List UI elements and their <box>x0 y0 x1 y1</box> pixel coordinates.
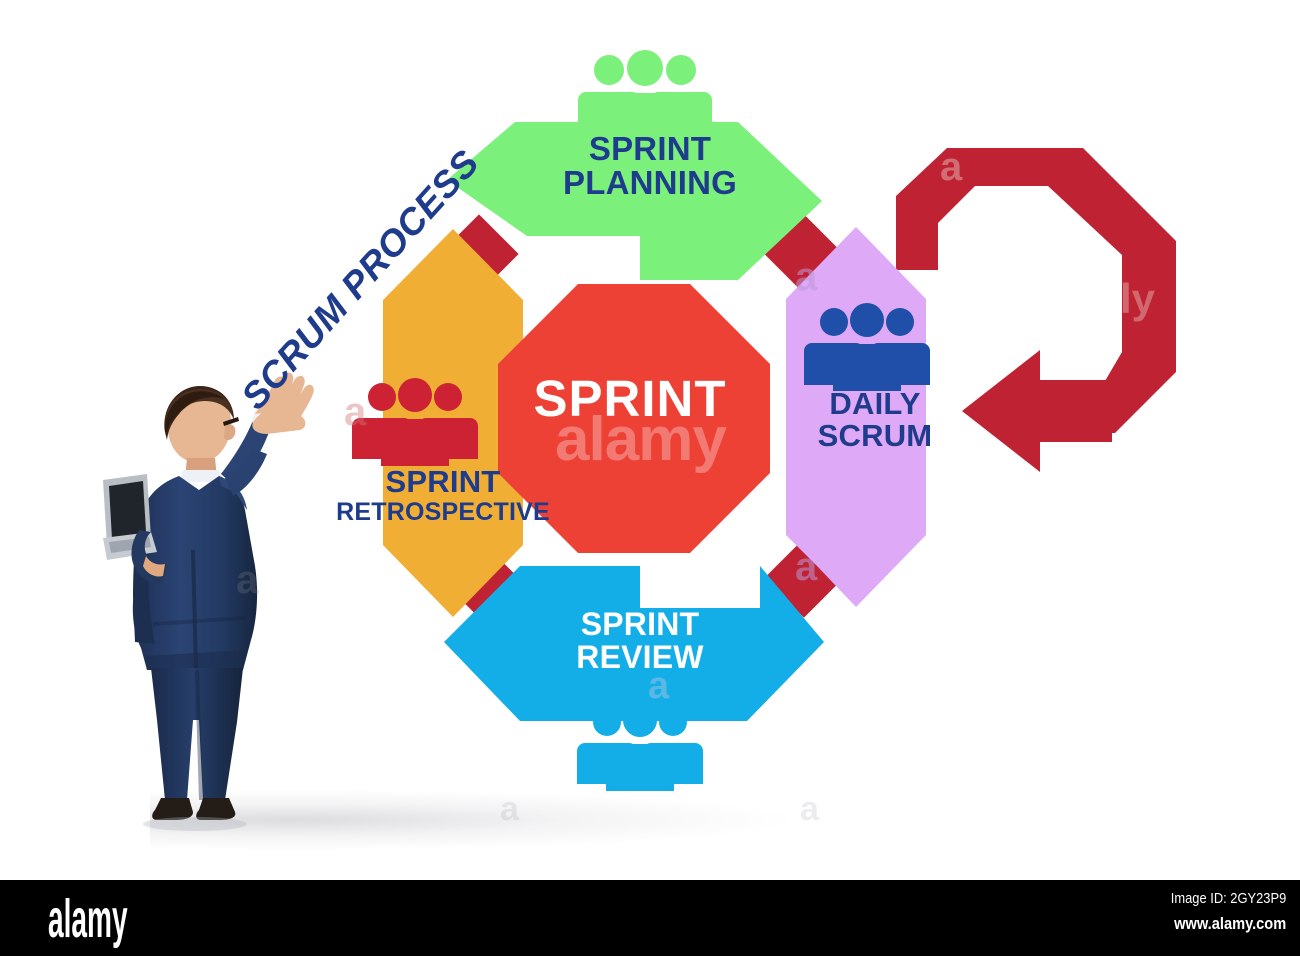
stage-shape-daily-scrum[interactable] <box>786 227 926 610</box>
shoe-left <box>152 798 193 820</box>
laptop <box>103 474 157 560</box>
screenshot-root: SCRUM PROCESS SPRINT PLANNING DAILY SCRU… <box>0 0 1300 956</box>
alamy-footer-meta: Image ID: 2GY23P9 www.alamy.com <box>1152 890 1286 934</box>
image-id-text: Image ID: 2GY23P9 <box>1171 890 1286 907</box>
people-group-icon-retrospective <box>352 378 478 466</box>
people-group-icon-daily-scrum <box>804 303 930 391</box>
alamy-url-text: www.alamy.com <box>1171 914 1286 934</box>
alamy-footer-bar: alamy Image ID: 2GY23P9 www.alamy.com <box>0 880 1300 956</box>
feedback-loop-arrow <box>896 148 1176 472</box>
shoe-right <box>196 798 235 820</box>
people-group-icon-planning <box>578 50 712 142</box>
scrum-process-diagram: SCRUM PROCESS SPRINT PLANNING DAILY SCRU… <box>0 0 1300 880</box>
alamy-logo: alamy <box>48 888 128 950</box>
businessman-figure <box>95 370 325 835</box>
stage-shape-sprint-review[interactable] <box>444 565 824 721</box>
head <box>164 386 239 463</box>
center-sprint-octagon[interactable] <box>498 284 770 553</box>
people-group-icon-review <box>577 703 703 791</box>
hand <box>252 373 313 434</box>
